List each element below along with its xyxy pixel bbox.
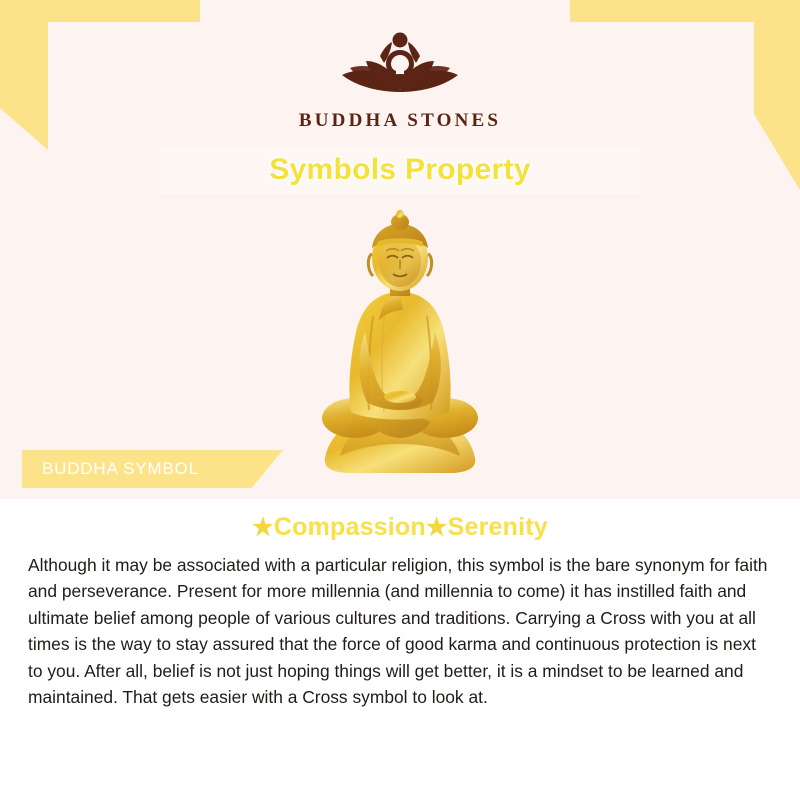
body-paragraph: Although it may be associated with a par… <box>28 552 772 711</box>
lotus-meditation-icon <box>308 26 493 108</box>
section-ribbon: BUDDHA SYMBOL <box>22 450 283 488</box>
star-icon-right: ★ <box>426 514 448 541</box>
brand-name: BUDDHA STONES <box>0 110 800 132</box>
ribbon-label: BUDDHA SYMBOL <box>42 459 199 479</box>
page-root: BUDDHA STONES Symbols Property <box>0 0 800 800</box>
subtitle-word-compassion: Compassion <box>274 513 426 541</box>
corner-bar-top-right <box>570 0 800 22</box>
page-title: Symbols Property <box>269 153 531 187</box>
star-icon-left: ★ <box>252 514 274 541</box>
content-panel: ★Compassion★Serenity Although it may be … <box>0 499 800 800</box>
corner-bar-top-left <box>0 0 200 22</box>
brand-logo: BUDDHA STONES <box>0 26 800 132</box>
seated-buddha-statue-icon <box>285 196 515 486</box>
content-subtitle: ★Compassion★Serenity <box>0 513 800 542</box>
title-band: Symbols Property <box>160 146 640 194</box>
subtitle-word-serenity: Serenity <box>448 513 548 541</box>
